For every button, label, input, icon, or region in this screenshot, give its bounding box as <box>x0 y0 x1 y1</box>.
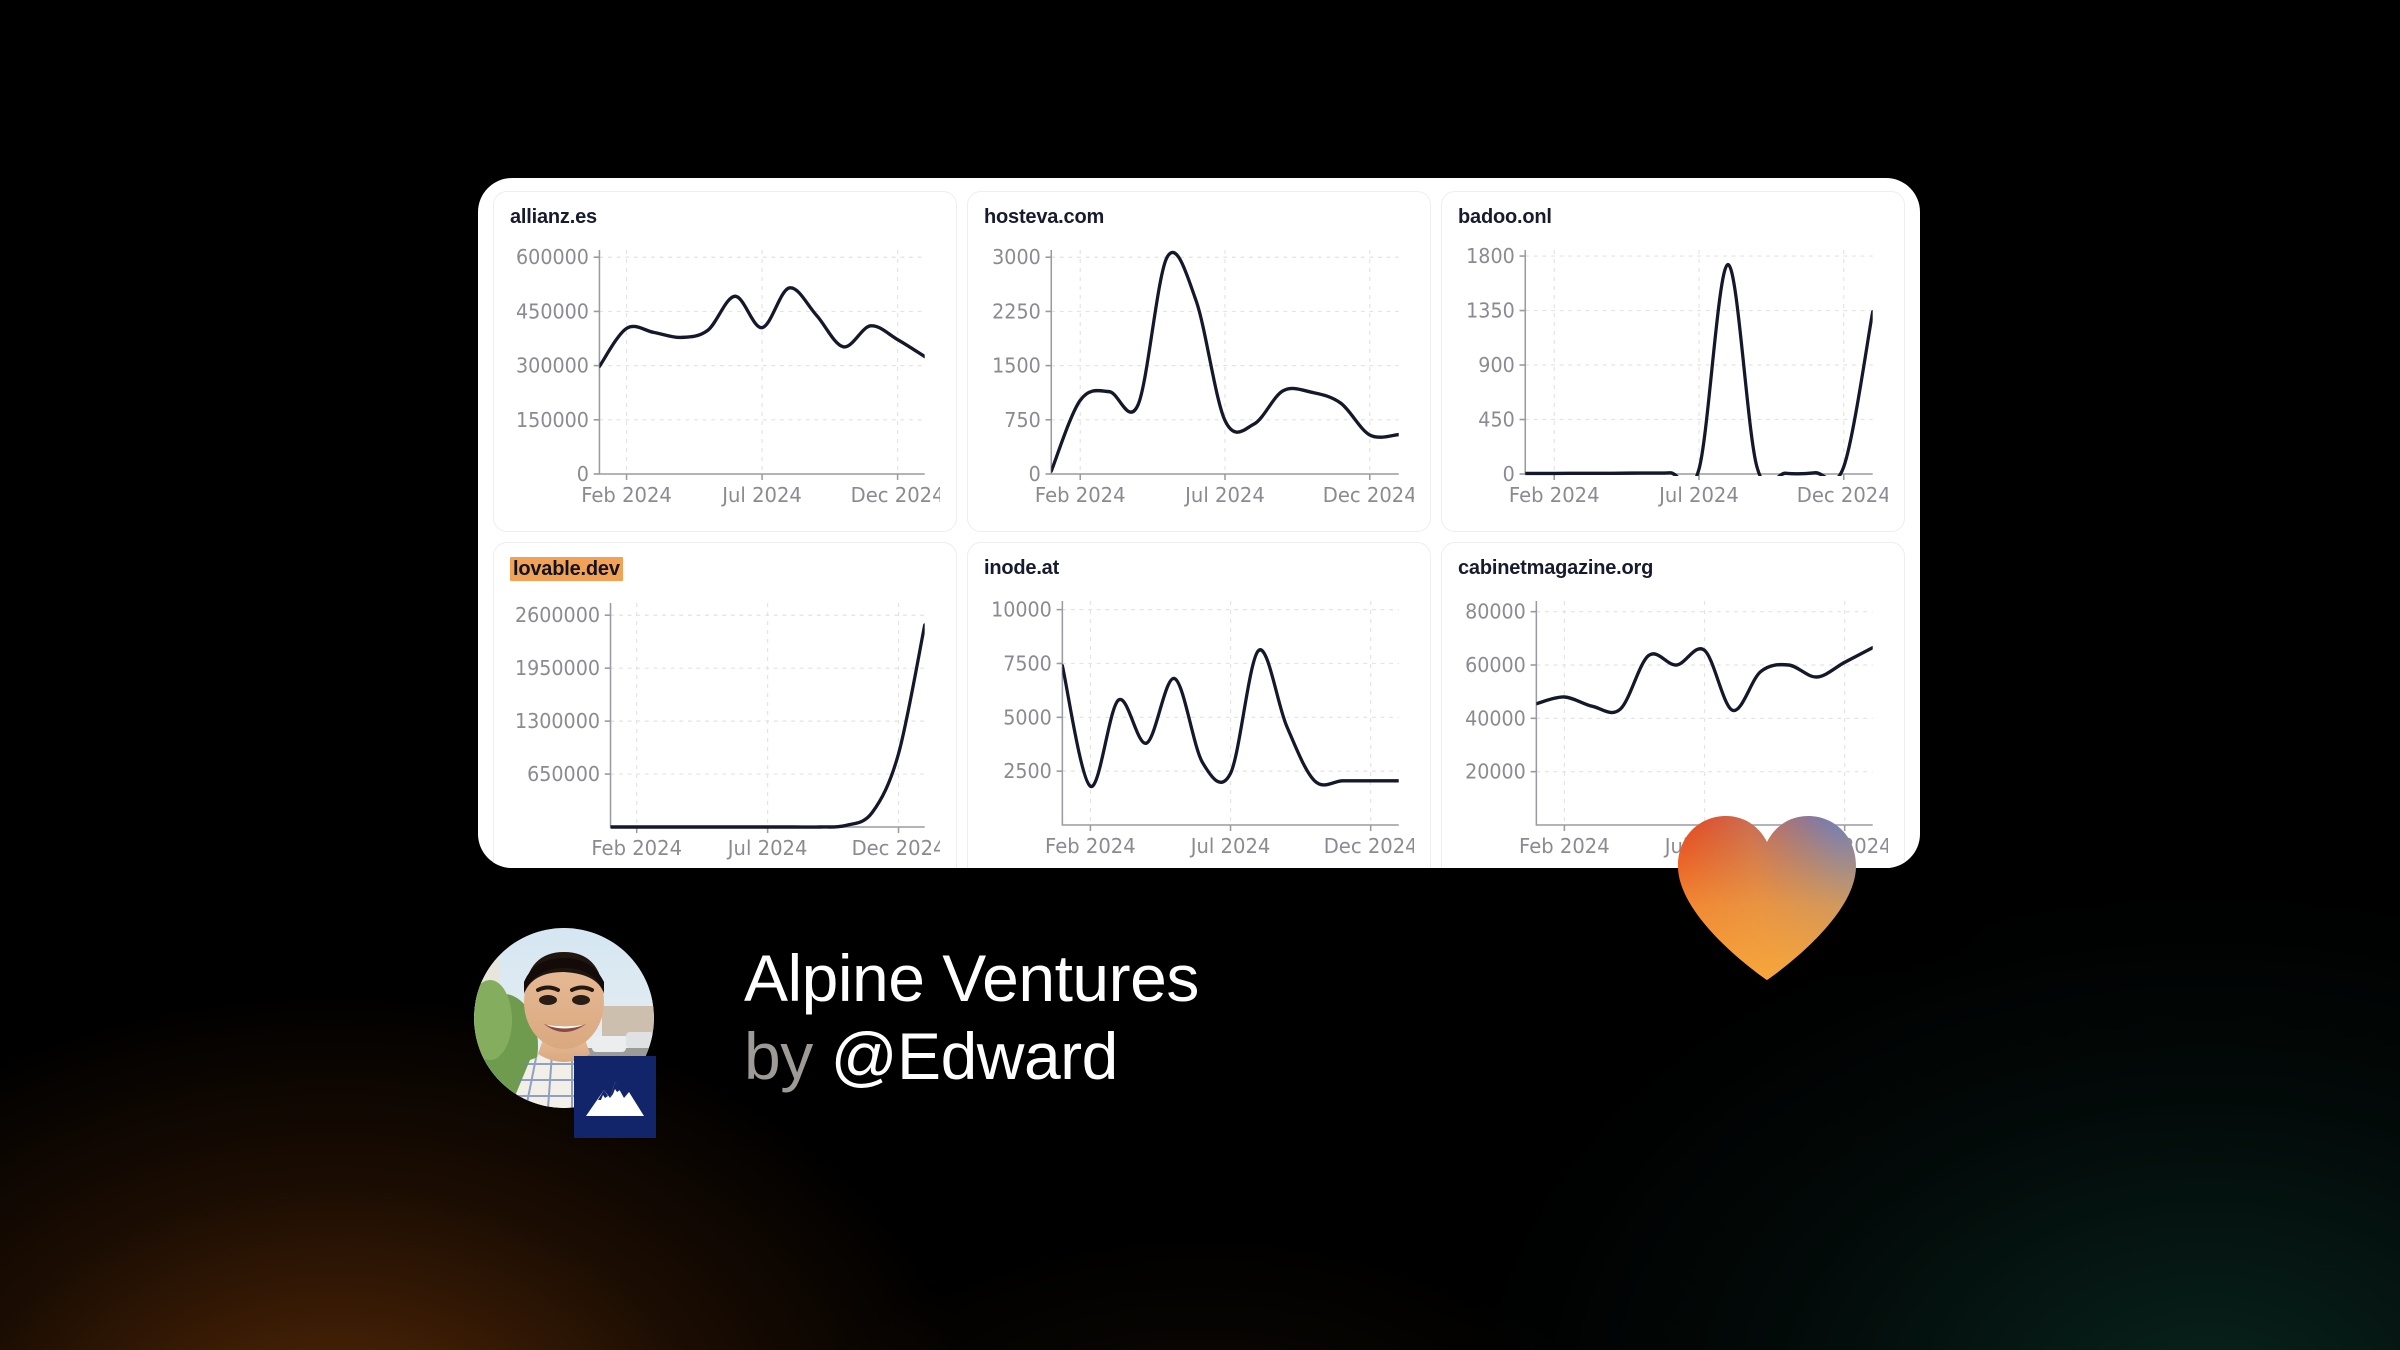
chart-panel[interactable]: hosteva.com0750150022503000Feb 2024Jul 2… <box>967 191 1431 532</box>
chart-plot: 650000130000019500002600000Feb 2024Jul 2… <box>510 591 940 867</box>
heart-icon[interactable] <box>1672 812 1862 982</box>
chart-plot: 045090013501800Feb 2024Jul 2024Dec 2024 <box>1458 238 1888 514</box>
svg-text:Feb 2024: Feb 2024 <box>591 836 682 861</box>
byline: by @Edward <box>744 1018 1199 1096</box>
svg-text:5000: 5000 <box>1003 706 1052 730</box>
svg-text:3000: 3000 <box>992 246 1041 270</box>
svg-text:Dec 2024: Dec 2024 <box>1323 483 1414 508</box>
svg-text:1950000: 1950000 <box>515 657 600 681</box>
chart-panel[interactable]: badoo.onl045090013501800Feb 2024Jul 2024… <box>1441 191 1905 532</box>
svg-text:Dec 2024: Dec 2024 <box>1324 834 1414 859</box>
svg-text:600000: 600000 <box>516 246 589 270</box>
author-text: Alpine Ventures by @Edward <box>744 940 1199 1096</box>
svg-text:450: 450 <box>1478 408 1514 432</box>
svg-text:Dec 2024: Dec 2024 <box>852 836 940 861</box>
chart-panel[interactable]: allianz.es0150000300000450000600000Feb 2… <box>493 191 957 532</box>
by-word: by <box>744 1019 813 1093</box>
chart-plot: 0750150022503000Feb 2024Jul 2024Dec 2024 <box>984 238 1414 514</box>
svg-text:Dec 2024: Dec 2024 <box>1797 483 1888 508</box>
chart-plot: 0150000300000450000600000Feb 2024Jul 202… <box>510 238 940 514</box>
dashboard-card: allianz.es0150000300000450000600000Feb 2… <box>478 178 1920 868</box>
svg-text:150000: 150000 <box>516 408 589 432</box>
svg-text:2600000: 2600000 <box>515 604 600 628</box>
svg-text:60000: 60000 <box>1465 654 1526 678</box>
author-handle: @Edward <box>831 1019 1118 1093</box>
svg-text:Jul 2024: Jul 2024 <box>1183 483 1265 508</box>
svg-text:1350: 1350 <box>1466 299 1515 323</box>
svg-text:Feb 2024: Feb 2024 <box>581 483 672 508</box>
svg-text:20000: 20000 <box>1465 760 1526 784</box>
avatar-wrap <box>474 928 654 1108</box>
svg-text:1500: 1500 <box>992 354 1041 378</box>
svg-text:750: 750 <box>1004 408 1040 432</box>
svg-text:10000: 10000 <box>991 598 1052 622</box>
svg-text:Jul 2024: Jul 2024 <box>726 836 808 861</box>
chart-title: cabinetmagazine.org <box>1458 557 1653 579</box>
chart-panel[interactable]: inode.at25005000750010000Feb 2024Jul 202… <box>967 542 1431 868</box>
chart-grid: allianz.es0150000300000450000600000Feb 2… <box>478 178 1920 868</box>
chart-panel[interactable]: lovable.dev650000130000019500002600000Fe… <box>493 542 957 868</box>
svg-text:7500: 7500 <box>1003 652 1052 676</box>
svg-text:40000: 40000 <box>1465 707 1526 731</box>
svg-text:Feb 2024: Feb 2024 <box>1035 483 1126 508</box>
svg-text:Feb 2024: Feb 2024 <box>1509 483 1600 508</box>
chart-title: badoo.onl <box>1458 206 1552 228</box>
svg-text:Feb 2024: Feb 2024 <box>1519 834 1610 859</box>
svg-text:2500: 2500 <box>1003 760 1052 784</box>
svg-text:2250: 2250 <box>992 300 1041 324</box>
svg-text:1300000: 1300000 <box>515 710 600 734</box>
chart-title: allianz.es <box>510 206 597 228</box>
svg-text:Dec 2024: Dec 2024 <box>851 483 940 508</box>
svg-text:1800: 1800 <box>1466 245 1515 269</box>
chart-plot: 25005000750010000Feb 2024Jul 2024Dec 202… <box>984 589 1414 865</box>
svg-text:450000: 450000 <box>516 300 589 324</box>
author-block: Alpine Ventures by @Edward <box>474 928 1199 1108</box>
svg-text:Jul 2024: Jul 2024 <box>1657 483 1739 508</box>
svg-text:300000: 300000 <box>516 354 589 378</box>
chart-title: inode.at <box>984 557 1059 579</box>
svg-text:Feb 2024: Feb 2024 <box>1045 834 1136 859</box>
chart-title: lovable.dev <box>510 557 623 581</box>
svg-text:80000: 80000 <box>1465 600 1526 624</box>
svg-text:Jul 2024: Jul 2024 <box>720 483 802 508</box>
svg-text:650000: 650000 <box>527 763 600 787</box>
chart-title: hosteva.com <box>984 206 1104 228</box>
mountain-icon <box>574 1056 656 1138</box>
page-title: Alpine Ventures <box>744 940 1199 1018</box>
svg-text:Jul 2024: Jul 2024 <box>1189 834 1271 859</box>
svg-text:900: 900 <box>1478 354 1514 378</box>
